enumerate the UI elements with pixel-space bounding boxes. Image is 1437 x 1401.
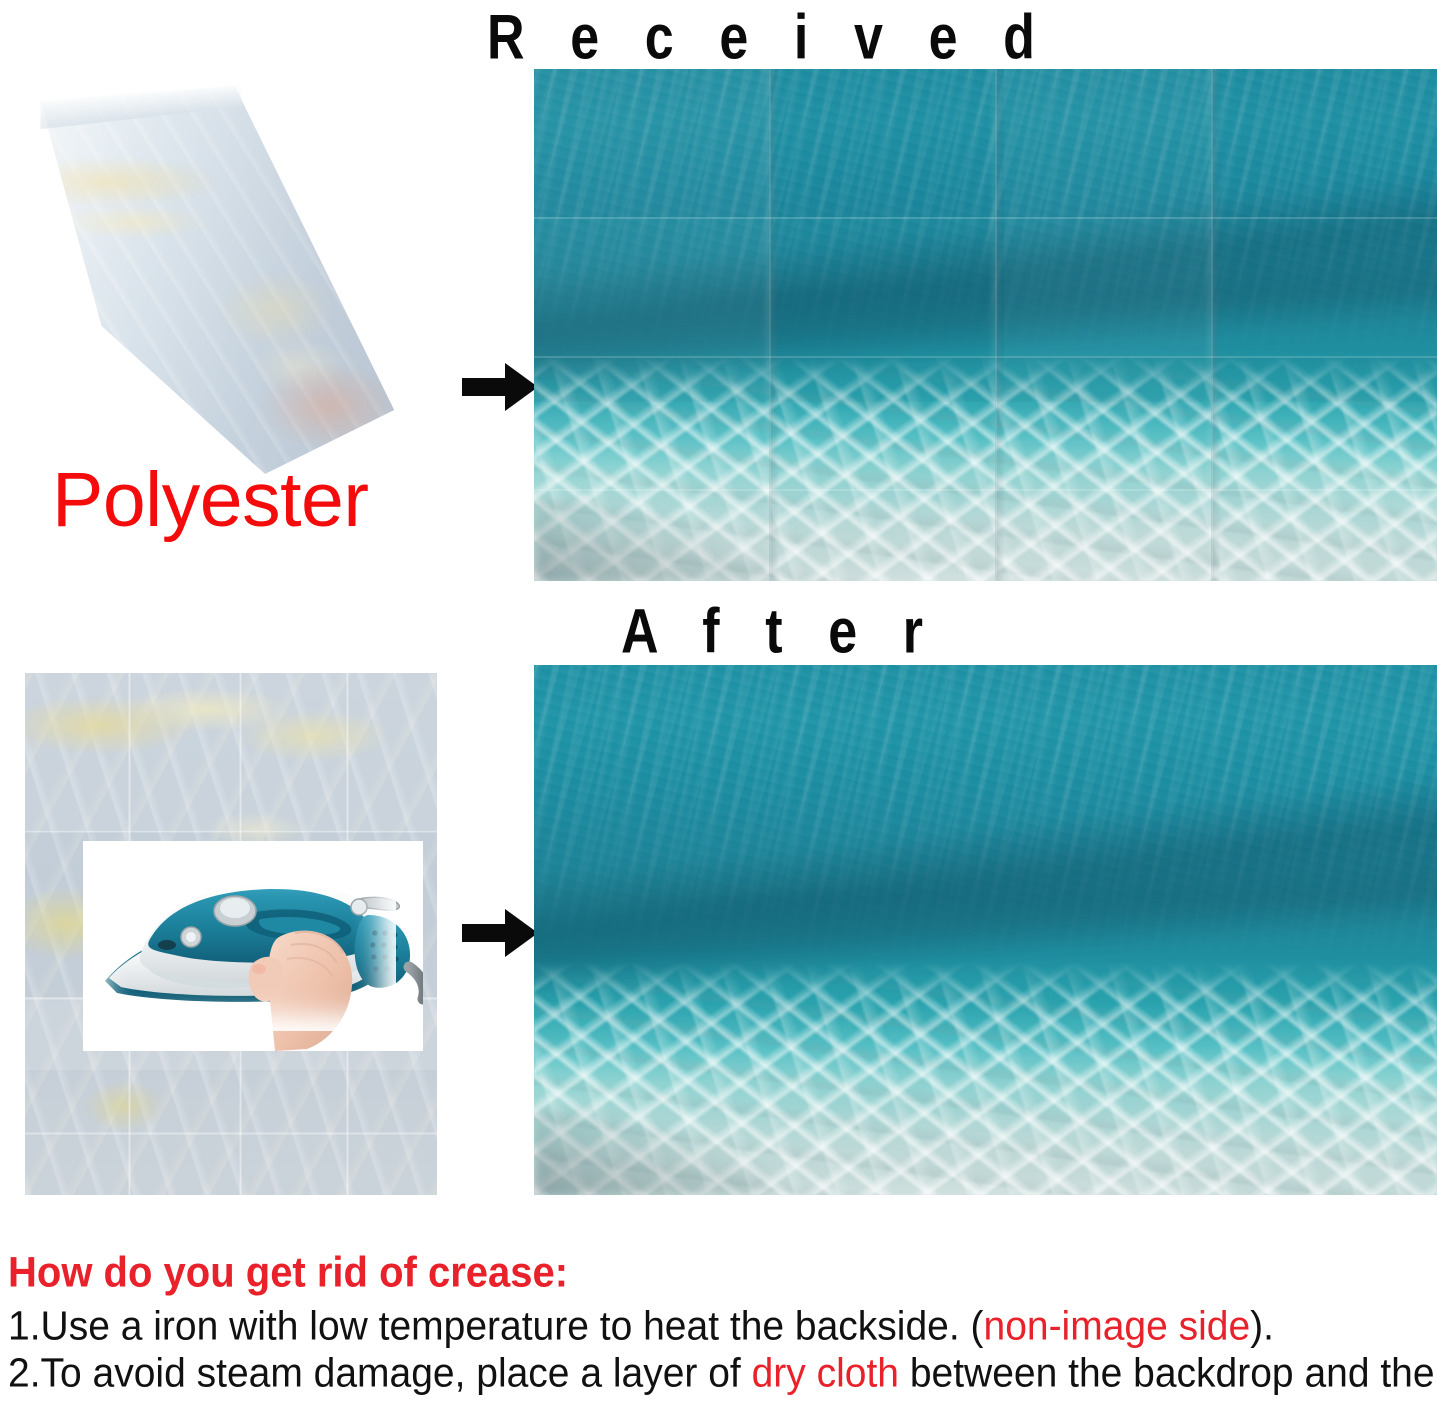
sand-shadow — [534, 1110, 769, 1195]
care-line-2-highlight: dry cloth — [752, 1351, 899, 1396]
right-arrow-icon — [462, 362, 538, 412]
care-instruction-line-1: 1.Use a iron with low temperature to hea… — [8, 1304, 1437, 1349]
care-line-1-before: 1.Use a iron with low temperature to hea… — [8, 1304, 984, 1349]
received-backdrop-photo — [534, 69, 1437, 581]
care-line-2-before: 2.To avoid steam damage, place a layer o… — [8, 1351, 752, 1396]
right-arrow-icon — [462, 908, 538, 958]
sand-shadow — [534, 499, 769, 581]
care-heading: How do you get rid of crease: — [8, 1248, 1437, 1297]
ocean-scene — [534, 665, 1437, 1195]
care-instruction-line-2: 2.To avoid steam damage, place a layer o… — [8, 1351, 1437, 1396]
folded-polyester-swatch — [18, 78, 398, 478]
fabric-shading — [18, 78, 398, 478]
care-line-1-highlight: non-image side — [984, 1304, 1251, 1349]
polyester-material-label: Polyester — [52, 458, 368, 542]
care-line-1-after: ). — [1250, 1304, 1274, 1349]
after-backdrop-photo — [534, 665, 1437, 1195]
care-line-2-after: between the backdrop and the iron. — [899, 1351, 1437, 1396]
after-section-title: A f t e r — [621, 600, 939, 663]
ocean-scene — [534, 69, 1437, 581]
care-instructions: How do you get rid of crease: 1.Use a ir… — [8, 1248, 1437, 1394]
iron-illustration — [91, 851, 396, 1031]
ironing-demo-photo — [91, 851, 396, 1031]
received-section-title: R e c e i v e d — [487, 6, 1051, 69]
